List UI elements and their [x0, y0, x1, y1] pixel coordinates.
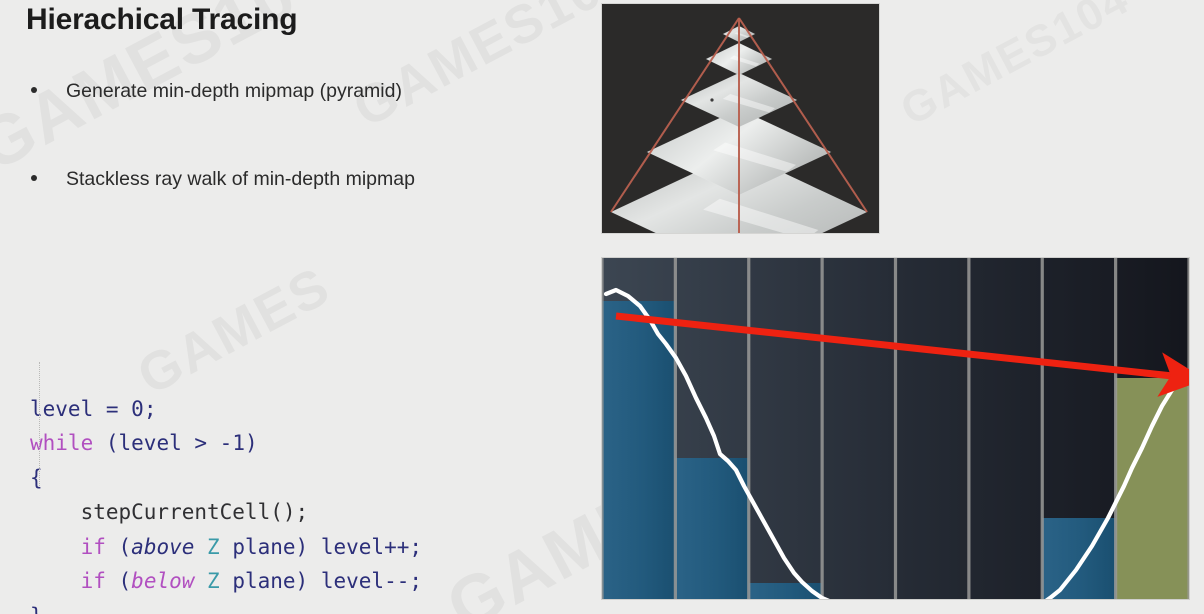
code-token: = [93, 397, 131, 421]
hit-cell-fill [1116, 378, 1189, 599]
code-line: { [30, 461, 422, 496]
code-line: stepCurrentCell(); [30, 495, 422, 530]
code-token: > [182, 431, 220, 455]
slide-root: GAMES104GAMES104GAMES104GAMESGAMES104104… [0, 0, 1204, 614]
code-token: -1 [220, 431, 245, 455]
code-token: plane) [220, 535, 321, 559]
page-title: Hierachical Tracing [26, 3, 297, 37]
code-token [194, 569, 207, 593]
code-line: while (level > -1) [30, 426, 422, 461]
code-token: Z [207, 535, 220, 559]
min-depth-cell-fill [602, 301, 675, 599]
min-depth-cell-fill [1042, 518, 1115, 599]
code-block: level = 0;while (level > -1){ stepCurren… [30, 288, 422, 614]
ray-walk-svg [602, 258, 1189, 599]
list-item: Generate min-depth mipmap (pyramid) [26, 78, 586, 104]
code-token: ( [106, 569, 131, 593]
code-token: level++; [321, 535, 422, 559]
code-line: level = 0; [30, 392, 422, 427]
code-token: } [30, 604, 43, 614]
code-line: if (below Z plane) level--; [30, 564, 422, 599]
code-lines: level = 0;while (level > -1){ stepCurren… [30, 392, 422, 614]
code-line: } [30, 599, 422, 614]
code-token: level--; [321, 569, 422, 593]
pyramid-texel-dot [710, 98, 713, 101]
code-token: if [81, 569, 106, 593]
watermark-text: GAMES104 [893, 0, 1138, 136]
code-token: stepCurrentCell [30, 500, 270, 524]
mipmap-pyramid-figure [602, 4, 879, 233]
code-token: below [131, 569, 194, 593]
code-token: 0 [131, 397, 144, 421]
code-token: above [131, 535, 194, 559]
code-token [30, 569, 81, 593]
code-token [30, 535, 81, 559]
code-token [194, 535, 207, 559]
ray-walk-figure [602, 258, 1189, 599]
code-token: ; [144, 397, 157, 421]
code-token: level [119, 431, 182, 455]
code-token: ) [245, 431, 258, 455]
min-depth-cell-fill [675, 458, 748, 599]
code-token: ( [93, 431, 118, 455]
indent-guide [39, 362, 40, 486]
pyramid-svg [602, 4, 879, 233]
code-token: plane) [220, 569, 321, 593]
code-token: (); [270, 500, 308, 524]
list-item: Stackless ray walk of min-depth mipmap [26, 166, 586, 192]
bullet-dot-icon [31, 87, 37, 93]
bullet-list: Generate min-depth mipmap (pyramid) Stac… [26, 78, 586, 192]
code-token: Z [207, 569, 220, 593]
bullet-text: Stackless ray walk of min-depth mipmap [66, 168, 415, 190]
code-token: ( [106, 535, 131, 559]
code-line: if (above Z plane) level++; [30, 530, 422, 565]
bullet-dot-icon [31, 175, 37, 181]
code-token: if [81, 535, 106, 559]
bullet-text: Generate min-depth mipmap (pyramid) [66, 80, 402, 102]
code-token: { [30, 466, 43, 490]
